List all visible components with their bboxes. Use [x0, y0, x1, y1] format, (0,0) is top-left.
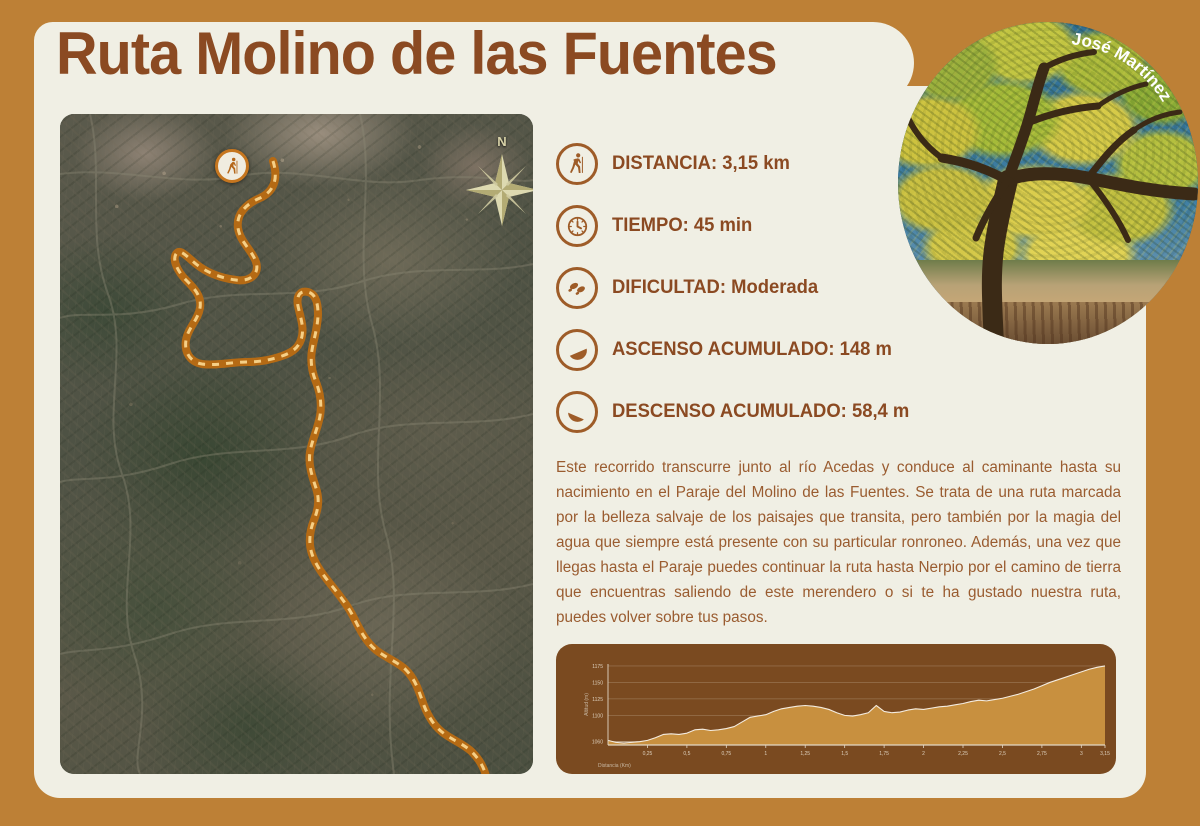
svg-text:1150: 1150: [592, 680, 603, 686]
svg-text:1100: 1100: [592, 713, 603, 719]
elevation-profile-chart: 106011001125115011750,250,50,7511,251,51…: [556, 644, 1116, 774]
svg-text:0,75: 0,75: [721, 751, 731, 757]
svg-text:1,25: 1,25: [800, 751, 810, 757]
svg-text:0,5: 0,5: [683, 751, 690, 757]
compass-north-label: N: [457, 134, 533, 149]
photo-tree: [898, 22, 1198, 344]
stat-label-descenso: DESCENSO ACUMULADO: 58,4 m: [612, 401, 909, 423]
svg-text:1060: 1060: [592, 740, 603, 746]
stat-label-tiempo: TIEMPO: 45 min: [612, 215, 752, 237]
ascent-icon: [556, 329, 598, 371]
footprints-icon: [556, 267, 598, 309]
svg-text:2,25: 2,25: [958, 751, 968, 757]
page-title: Ruta Molino de las Fuentes: [56, 24, 777, 84]
svg-text:2: 2: [922, 751, 925, 757]
svg-text:1,75: 1,75: [879, 751, 889, 757]
svg-text:Distancia (Km): Distancia (Km): [598, 763, 631, 769]
stat-label-ascenso: ASCENSO ACUMULADO: 148 m: [612, 339, 892, 361]
svg-text:1125: 1125: [592, 697, 603, 703]
hiker-icon: [223, 157, 242, 176]
svg-text:2,75: 2,75: [1037, 751, 1047, 757]
svg-text:1,5: 1,5: [841, 751, 848, 757]
stat-row-descenso: DESCENSO ACUMULADO: 58,4 m: [556, 381, 976, 443]
svg-text:1: 1: [764, 751, 767, 757]
route-map[interactable]: N: [60, 114, 533, 774]
stat-label-distancia: DISTANCIA: 3,15 km: [612, 153, 790, 175]
svg-text:2,5: 2,5: [999, 751, 1006, 757]
compass-rose: N: [457, 134, 533, 234]
stat-label-dificultad: DIFICULTAD: Moderada: [612, 277, 818, 299]
elevation-chart-svg: 106011001125115011750,250,50,7511,251,51…: [556, 644, 1116, 774]
svg-text:3: 3: [1080, 751, 1083, 757]
svg-text:Altitud (m): Altitud (m): [584, 693, 590, 716]
hiker-marker[interactable]: [215, 149, 249, 183]
descent-icon: [556, 391, 598, 433]
svg-text:0,25: 0,25: [643, 751, 653, 757]
svg-text:1175: 1175: [592, 664, 603, 670]
hiker-icon: [556, 143, 598, 185]
clock-icon: [556, 205, 598, 247]
route-description: Este recorrido transcurre junto al río A…: [556, 455, 1121, 630]
svg-text:3,15: 3,15: [1100, 751, 1110, 757]
route-photo: [898, 22, 1198, 344]
